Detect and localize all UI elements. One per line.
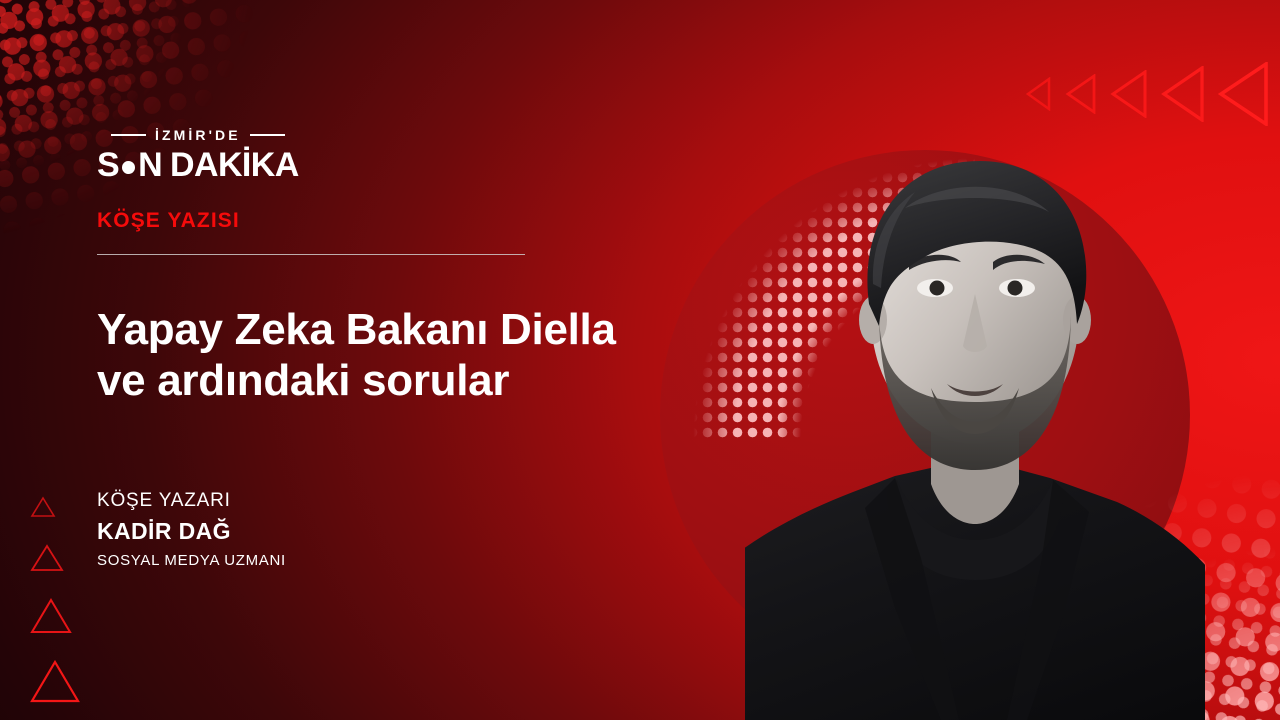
logo-city-row: İZMİR'DE <box>97 128 299 142</box>
banner-content: İZMİR'DE S N DAKİKA KÖŞE YAZISI Yapay Ze… <box>97 0 697 720</box>
site-logo[interactable]: İZMİR'DE S N DAKİKA <box>97 128 299 182</box>
news-banner: İZMİR'DE S N DAKİKA KÖŞE YAZISI Yapay Ze… <box>0 0 1280 720</box>
triangle-up-icon <box>30 543 64 573</box>
logo-word-n: N <box>138 148 162 182</box>
logo-rule-right <box>250 134 285 136</box>
author-portrait <box>745 88 1205 720</box>
filled-dot-icon <box>122 161 135 174</box>
logo-city-label: İZMİR'DE <box>155 128 241 142</box>
triangle-up-icon <box>30 495 56 519</box>
triangle-up-icon <box>30 659 80 704</box>
author-byline: KÖŞE YAZARI KADİR DAĞ SOSYAL MEDYA UZMAN… <box>97 487 286 573</box>
triangle-up-icon <box>30 597 72 635</box>
portrait-illustration <box>745 88 1205 720</box>
triangle-left-icon <box>1218 62 1268 126</box>
page-title: Yapay Zeka Bakanı Diella ve ardındaki so… <box>97 305 617 405</box>
logo-rule-left <box>111 134 146 136</box>
author-role-label: KÖŞE YAZARI <box>97 487 286 515</box>
category-kicker: KÖŞE YAZISI <box>97 210 240 231</box>
logo-word-dakika: DAKİKA <box>170 148 299 182</box>
author-name: KADİR DAĞ <box>97 517 286 547</box>
author-title: SOSYAL MEDYA UZMANI <box>97 550 286 573</box>
logo-word-s: S <box>97 148 119 182</box>
logo-wordmark: S N DAKİKA <box>97 148 299 182</box>
header-divider <box>97 254 525 255</box>
triangle-column-left-edge <box>30 495 88 720</box>
